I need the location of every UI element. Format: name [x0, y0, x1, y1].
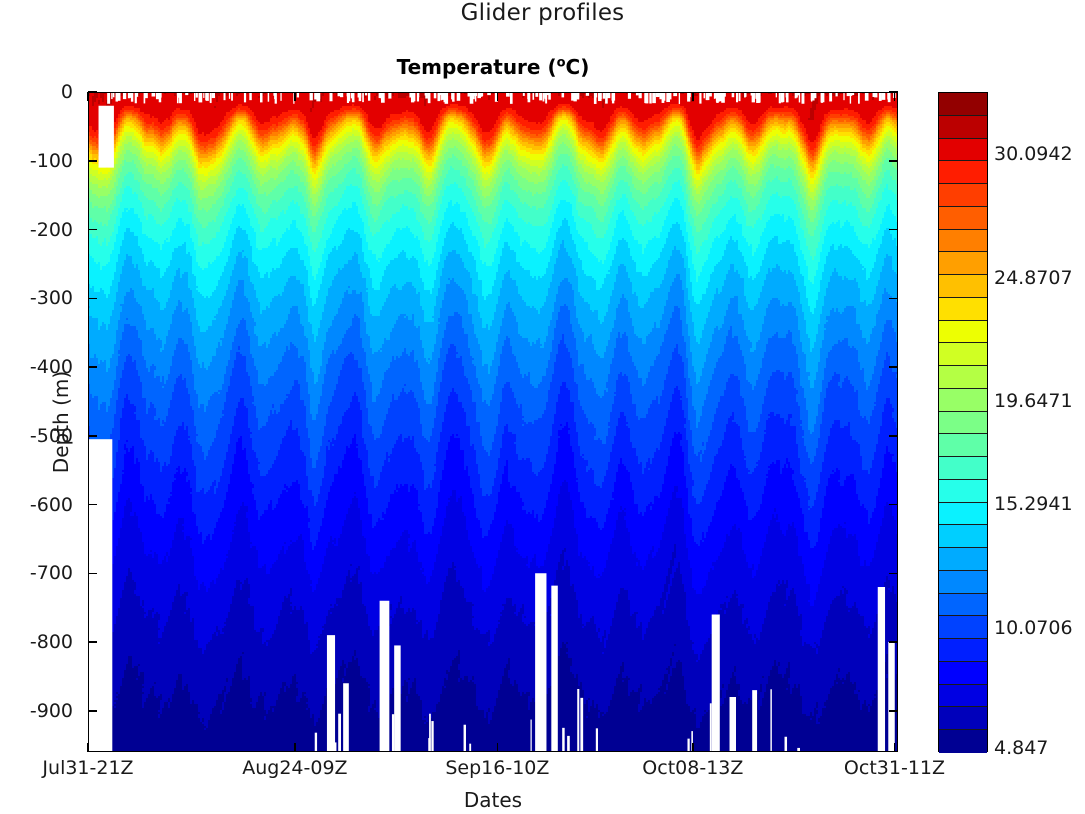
colorbar-band — [939, 93, 987, 116]
x-tick-mark-top — [294, 92, 296, 101]
colorbar-band — [939, 161, 987, 184]
y-tick-mark-right — [889, 160, 898, 162]
temperature-section-plot — [88, 92, 898, 752]
x-tick-label: Jul31-21Z — [42, 757, 133, 779]
y-tick-label: -700 — [30, 562, 73, 584]
contour-canvas — [88, 92, 898, 752]
x-tick-label: Aug24-09Z — [242, 757, 347, 779]
colorbar-band — [939, 571, 987, 594]
y-tick-mark-right — [889, 504, 898, 506]
degree-superscript: o — [557, 55, 566, 70]
colorbar-band — [939, 685, 987, 708]
y-tick-label: -100 — [30, 150, 73, 172]
colorbar-tick-label: 15.2941 — [994, 493, 1073, 515]
x-tick-mark — [294, 743, 296, 752]
colorbar-band — [939, 639, 987, 662]
colorbar-band — [939, 548, 987, 571]
colorbar-band — [939, 480, 987, 503]
y-tick-mark — [88, 298, 97, 300]
colorbar-band — [939, 616, 987, 639]
colorbar-band — [939, 184, 987, 207]
x-tick-mark — [87, 743, 89, 752]
x-tick-label: Oct08-13Z — [642, 757, 743, 779]
colorbar-tick-label: 4.847 — [994, 737, 1048, 759]
colorbar-band — [939, 594, 987, 617]
y-tick-mark-right — [889, 641, 898, 643]
y-tick-mark — [88, 573, 97, 575]
y-tick-mark — [88, 504, 97, 506]
y-tick-label: -300 — [30, 287, 73, 309]
x-tick-mark-top — [497, 92, 499, 101]
y-tick-mark — [88, 160, 97, 162]
colorbar-band — [939, 730, 987, 753]
colorbar-band — [939, 116, 987, 139]
y-tick-mark — [88, 91, 97, 93]
y-tick-mark-right — [889, 298, 898, 300]
y-tick-mark-right — [889, 366, 898, 368]
colorbar-band — [939, 298, 987, 321]
y-tick-label: -800 — [30, 631, 73, 653]
x-tick-label: Sep16-10Z — [445, 757, 549, 779]
y-axis-title: Depth (m) — [49, 371, 73, 473]
colorbar-band — [939, 207, 987, 230]
colorbar-band — [939, 525, 987, 548]
colorbar-band — [939, 366, 987, 389]
x-tick-mark — [497, 743, 499, 752]
x-tick-mark — [692, 743, 694, 752]
y-tick-mark-right — [889, 229, 898, 231]
x-tick-mark-top — [87, 92, 89, 101]
colorbar-band — [939, 412, 987, 435]
colorbar-band — [939, 662, 987, 685]
colorbar — [938, 92, 988, 752]
colorbar-tick-label: 19.6471 — [994, 390, 1073, 412]
y-tick-label: -200 — [30, 219, 73, 241]
colorbar-band — [939, 343, 987, 366]
colorbar-band — [939, 503, 987, 526]
colorbar-band — [939, 275, 987, 298]
y-tick-mark-right — [889, 710, 898, 712]
axes-title-main: Temperature ( — [397, 55, 557, 79]
colorbar-tick-label: 10.0706 — [994, 617, 1073, 639]
y-tick-label: -900 — [30, 700, 73, 722]
x-tick-label: Oct31-11Z — [844, 757, 945, 779]
x-tick-mark-top — [692, 92, 694, 101]
y-tick-label: -600 — [30, 494, 73, 516]
y-tick-mark — [88, 366, 97, 368]
y-tick-mark — [88, 435, 97, 437]
x-axis-labels: Jul31-21ZAug24-09ZSep16-10ZOct08-13ZOct3… — [0, 757, 1085, 787]
axes-title-tail: C) — [566, 55, 590, 79]
x-tick-mark-top — [894, 92, 896, 101]
colorbar-band — [939, 230, 987, 253]
colorbar-band — [939, 434, 987, 457]
colorbar-band — [939, 707, 987, 730]
colorbar-band — [939, 457, 987, 480]
y-axis-title-wrap: Depth (m) — [62, 92, 63, 752]
figure-suptitle: Glider profiles — [0, 0, 1085, 26]
colorbar-band — [939, 389, 987, 412]
x-tick-mark — [894, 743, 896, 752]
colorbar-tick-label: 30.0942 — [994, 143, 1073, 165]
colorbar-band — [939, 252, 987, 275]
colorbar-tick-label: 24.8707 — [994, 267, 1073, 289]
y-tick-mark — [88, 229, 97, 231]
y-tick-mark — [88, 641, 97, 643]
x-axis-title: Dates — [88, 788, 898, 812]
y-tick-mark — [88, 710, 97, 712]
y-tick-mark-right — [889, 435, 898, 437]
axes-title: Temperature (oC) — [88, 55, 898, 79]
y-tick-mark-right — [889, 573, 898, 575]
colorbar-band — [939, 139, 987, 162]
colorbar-labels: 30.094224.870719.647115.294110.07064.847 — [994, 0, 1085, 814]
colorbar-band — [939, 321, 987, 344]
